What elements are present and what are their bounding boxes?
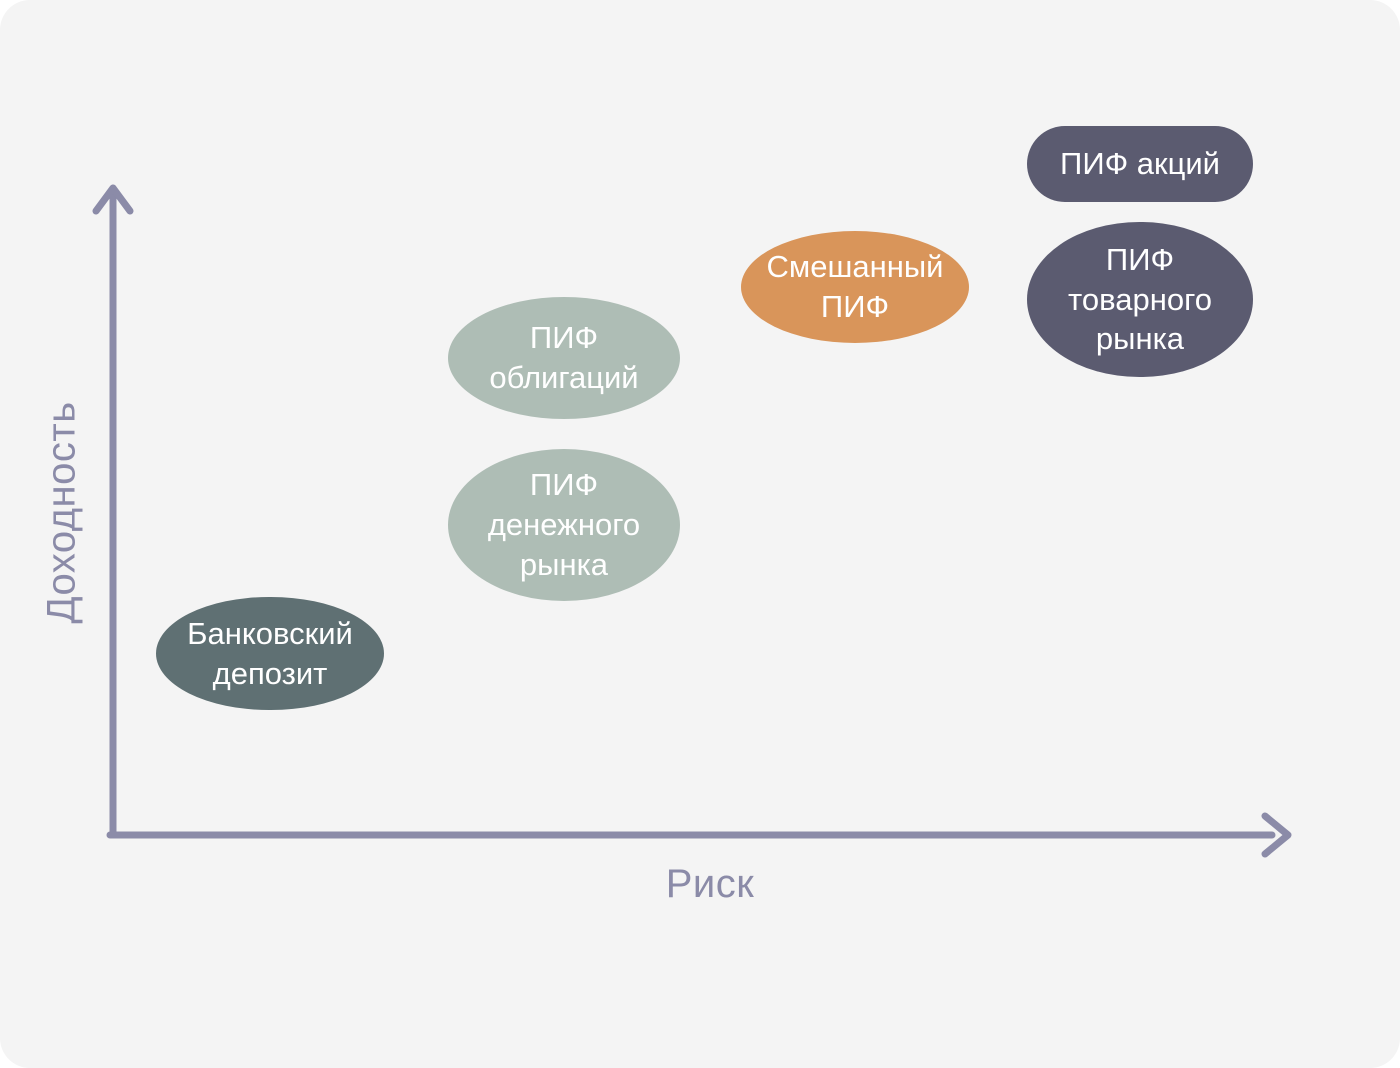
chart-card: Доходность Риск Банковский депозит ПИФ д… bbox=[0, 0, 1400, 1068]
x-axis-label: Риск bbox=[580, 862, 840, 907]
y-axis-arrowhead bbox=[96, 188, 130, 211]
bubble-bank-deposit[interactable]: Банковский депозит bbox=[156, 597, 384, 710]
bubble-bond-fund[interactable]: ПИФ облигаций bbox=[448, 297, 680, 419]
y-axis-label: Доходность bbox=[40, 383, 85, 643]
bubble-stock-fund[interactable]: ПИФ акций bbox=[1027, 126, 1253, 202]
bubble-commodity-fund[interactable]: ПИФ товарного рынка bbox=[1027, 222, 1253, 377]
bubble-money-market-fund[interactable]: ПИФ денежного рынка bbox=[448, 449, 680, 601]
x-axis-arrowhead bbox=[1265, 816, 1288, 854]
bubble-mixed-fund[interactable]: Смешанный ПИФ bbox=[741, 231, 969, 343]
